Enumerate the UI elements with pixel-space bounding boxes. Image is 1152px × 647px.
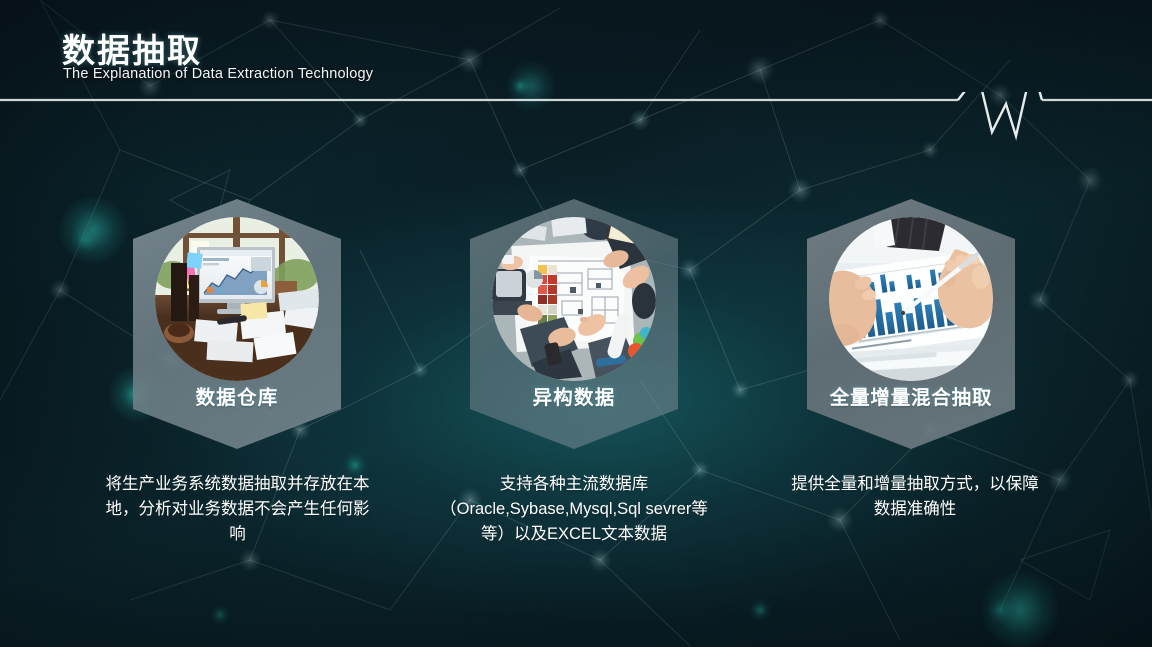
card-label: 数据仓库 bbox=[133, 381, 341, 410]
card-description-heterogeneous-data: 支持各种主流数据库（Oracle,Sybase,Mysql,Sql sevrer… bbox=[438, 472, 710, 547]
page-subtitle: The Explanation of Data Extraction Techn… bbox=[63, 66, 373, 82]
hands-pointing-bar-chart-report-photo-icon bbox=[829, 217, 993, 381]
card-label: 异构数据 bbox=[470, 381, 678, 410]
slide-canvas: 数据抽取 The Explanation of Data Extraction … bbox=[0, 0, 1152, 647]
card-label: 全量增量混合抽取 bbox=[807, 381, 1015, 410]
slide-header: 数据抽取 The Explanation of Data Extraction … bbox=[0, 0, 1152, 104]
card-description-full-incremental-hybrid-extraction: 提供全量和增量抽取方式，以保障数据准确性 bbox=[790, 472, 1040, 522]
page-title: 数据抽取 bbox=[62, 24, 202, 72]
card-full-incremental-hybrid-extraction[interactable]: 全量增量混合抽取 bbox=[807, 199, 1015, 449]
desk-monitor-dashboard-photo-icon bbox=[155, 217, 319, 381]
heartbeat-pulse-icon bbox=[958, 92, 1042, 136]
header-divider-with-pulse bbox=[0, 92, 1152, 152]
team-meeting-blueprint-photo-icon bbox=[492, 217, 656, 381]
card-data-warehouse[interactable]: 数据仓库 bbox=[133, 199, 341, 449]
card-heterogeneous-data[interactable]: 异构数据 bbox=[470, 199, 678, 449]
card-description-data-warehouse: 将生产业务系统数据抽取并存放在本地，分析对业务数据不会产生任何影响 bbox=[105, 472, 370, 547]
